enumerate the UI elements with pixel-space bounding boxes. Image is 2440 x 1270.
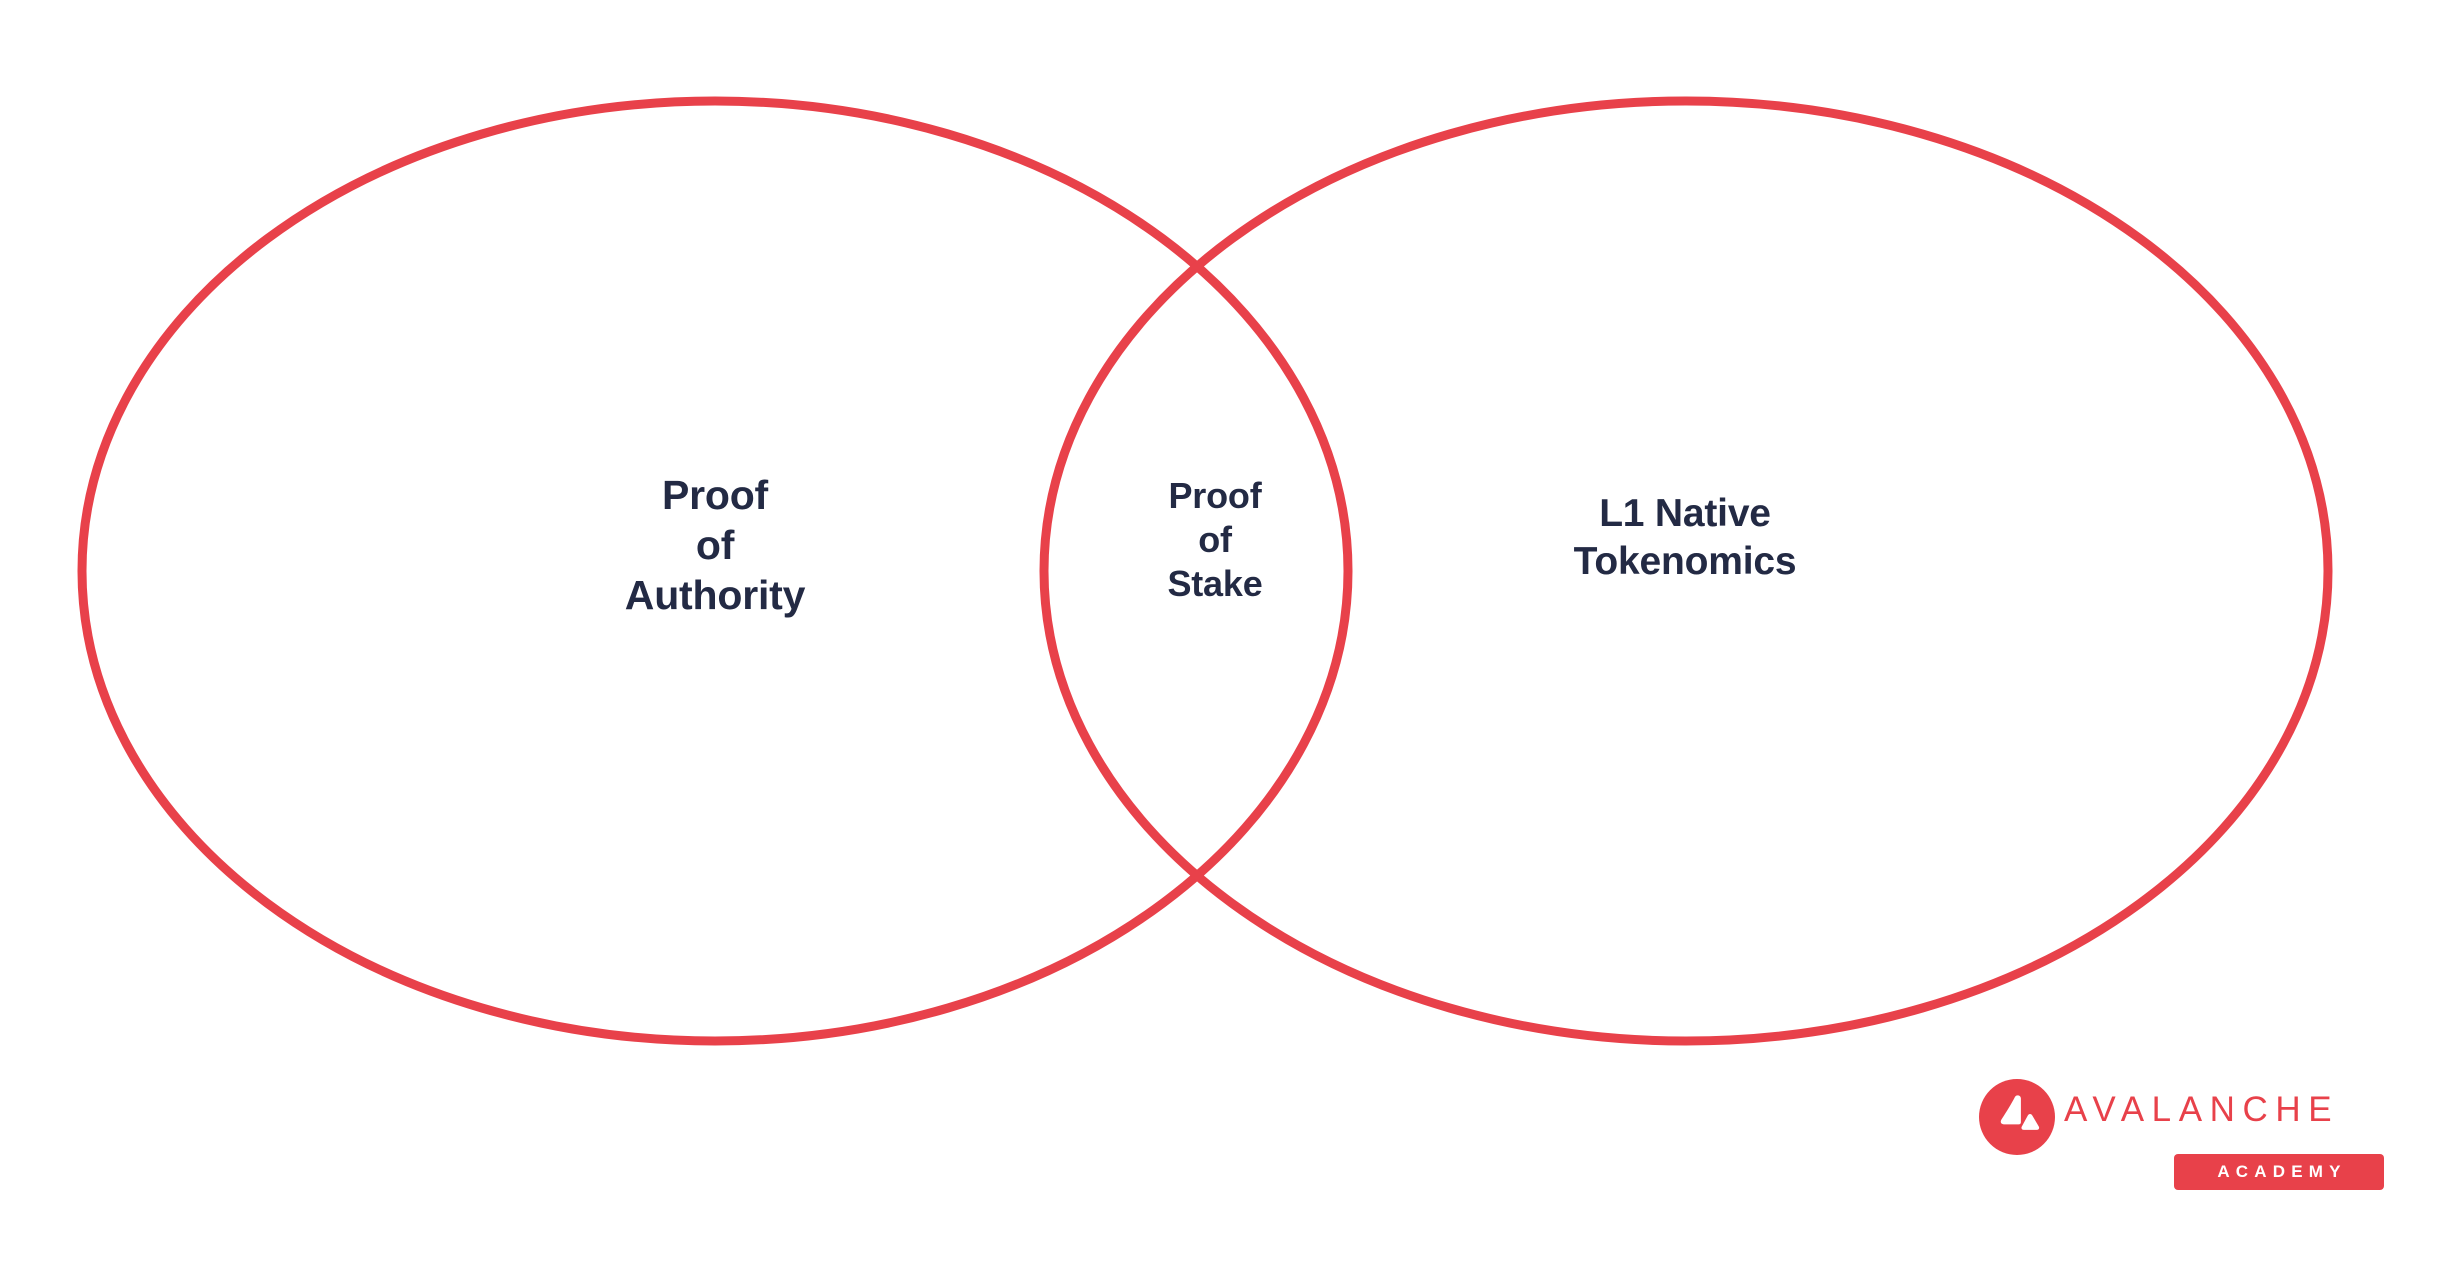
avalanche-logo-mark-icon [1978, 1078, 2056, 1156]
avalanche-wordmark: AVALANCHE [2064, 1088, 2386, 1132]
venn-diagram-canvas: Proof of Authority Proof of Stake L1 Nat… [0, 0, 2440, 1270]
avalanche-academy-logo: AVALANCHE ACADEMY [1978, 1070, 2388, 1200]
academy-badge: ACADEMY [2174, 1154, 2384, 1190]
intersection-label: Proof of Stake [1070, 474, 1360, 606]
right-set-label: L1 Native Tokenomics [1400, 490, 1970, 585]
left-set-label: Proof of Authority [430, 470, 1000, 620]
academy-badge-label: ACADEMY [2174, 1154, 2384, 1190]
